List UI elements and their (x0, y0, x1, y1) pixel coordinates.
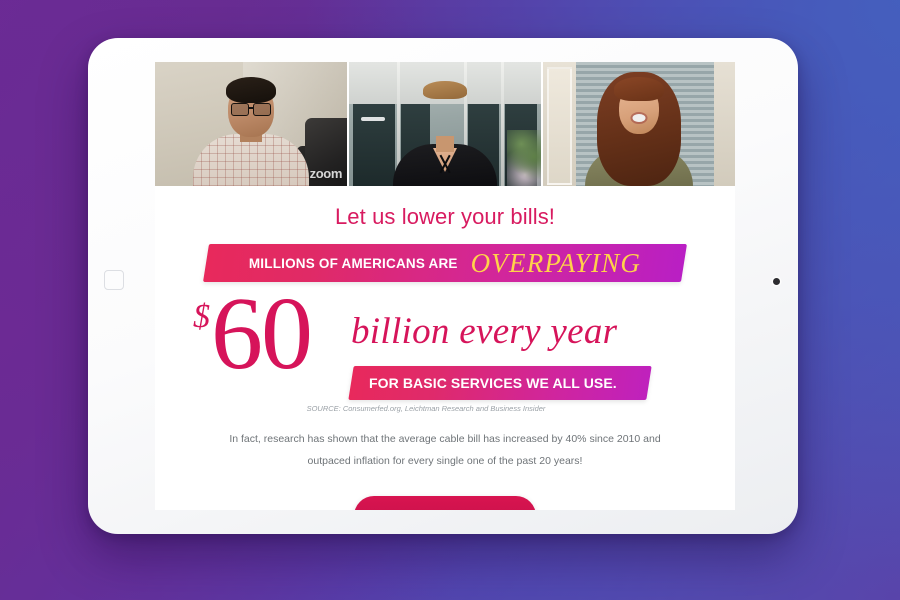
source-citation: SOURCE: Consumerfed.org, Leichtman Resea… (155, 404, 735, 413)
front-camera-icon (773, 278, 780, 285)
overpaying-label: OVERPAYING (471, 248, 642, 279)
tablet-device: zoom (88, 38, 798, 534)
door-frame (547, 67, 572, 185)
wall-right (714, 62, 735, 186)
body-copy: In fact, research has shown that the ave… (210, 429, 680, 472)
home-button-icon[interactable] (104, 270, 124, 290)
landing-page-content: Let us lower your bills! MILLIONS OF AME… (155, 186, 735, 510)
statistic-block: $ 60 billion every year FOR BASIC SERVIC… (155, 292, 735, 402)
video-tile-participant-3[interactable] (543, 62, 735, 186)
participant-fringe (423, 81, 467, 99)
eyeglasses-icon (231, 103, 271, 114)
millions-label: MILLIONS OF AMERICANS ARE (249, 256, 458, 271)
office-plant (507, 130, 543, 186)
participant-hair (226, 77, 276, 103)
participant-mouth (633, 114, 646, 122)
basic-services-label: FOR BASIC SERVICES WE ALL USE. (369, 375, 617, 391)
participant-neck (436, 136, 454, 152)
zoom-watermark: zoom (310, 166, 342, 181)
ceiling-light (361, 117, 386, 121)
tablet-screen: zoom (155, 62, 735, 510)
window-mullion (501, 62, 504, 186)
participant-fringe (614, 77, 664, 101)
basic-services-ribbon: FOR BASIC SERVICES WE ALL USE. (348, 366, 651, 400)
stat-unit: billion every year (351, 310, 617, 353)
stat-number: 60 (211, 286, 311, 383)
crossed-straps (434, 154, 456, 174)
video-tile-participant-2[interactable] (349, 62, 543, 186)
stat-amount: $ 60 (193, 286, 311, 383)
cta-button[interactable] (354, 496, 536, 510)
screenshot-stage: zoom (0, 0, 900, 600)
video-tile-participant-1[interactable]: zoom (155, 62, 349, 186)
page-headline: Let us lower your bills! (155, 204, 735, 230)
video-call-strip: zoom (155, 62, 735, 186)
currency-symbol: $ (193, 298, 210, 336)
